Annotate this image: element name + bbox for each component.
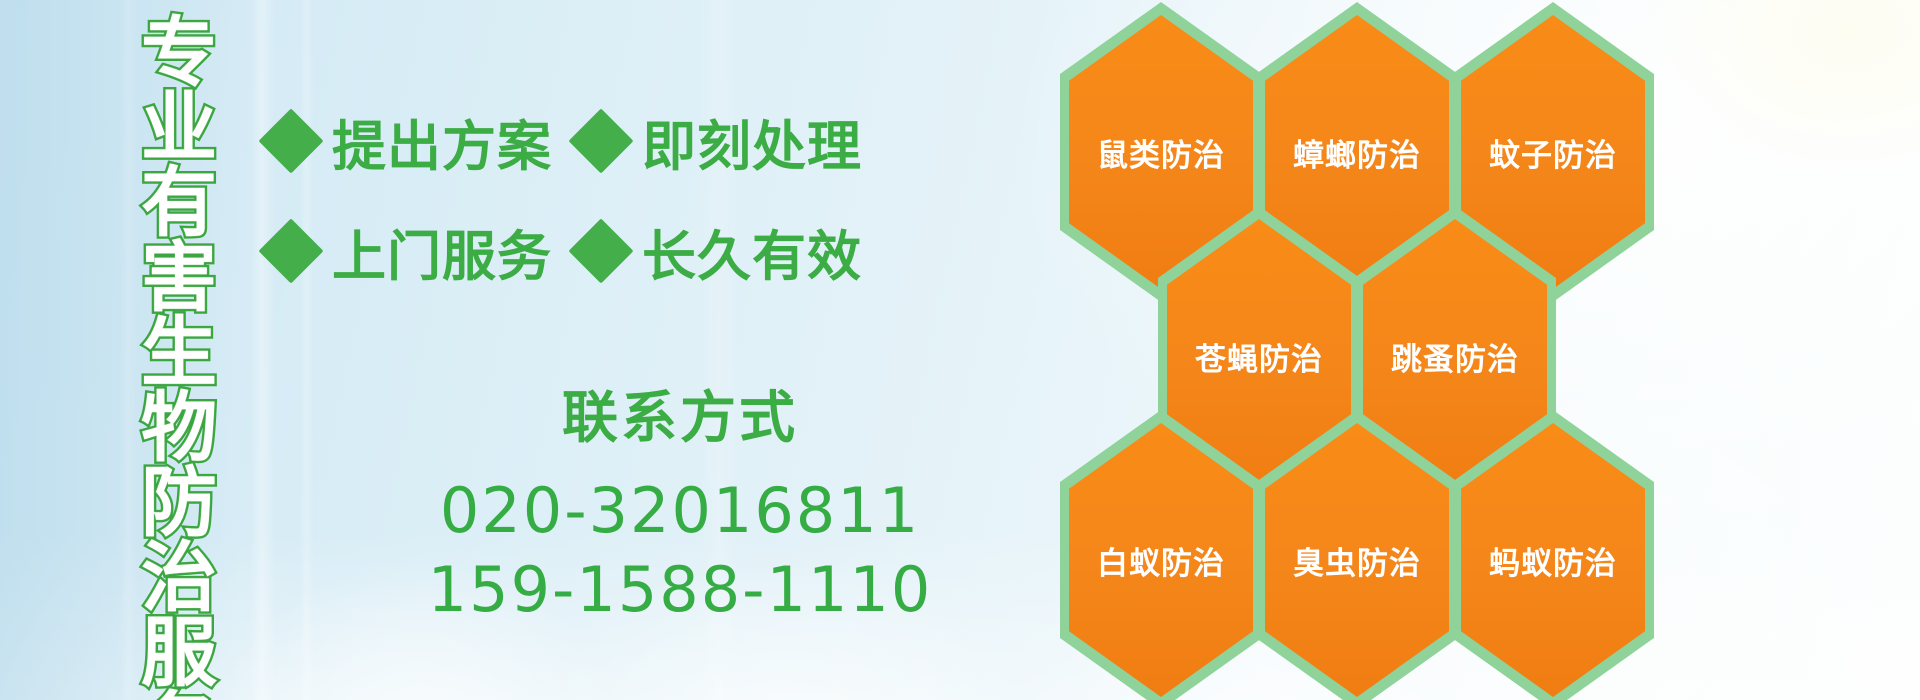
feature-item-long-lasting: 长久有效: [578, 212, 862, 291]
service-label: 白蚁防治: [1097, 538, 1225, 583]
diamond-icon: [258, 218, 323, 283]
diamond-icon: [258, 108, 323, 173]
feature-item-immediate-treatment: 即刻处理: [578, 102, 862, 181]
feature-item-onsite-service: 上门服务: [268, 212, 552, 291]
service-label: 鼠类防治: [1097, 130, 1225, 175]
service-label: 跳蚤防治: [1391, 334, 1519, 379]
contact-block: 联系方式 020-32016811 159-1588-1110: [400, 390, 960, 630]
diamond-icon: [568, 108, 633, 173]
vertical-headline: 专业有害生物防治服务: [112, 12, 208, 700]
feature-row: 提出方案 即刻处理: [268, 86, 888, 196]
feature-row: 上门服务 长久有效: [268, 196, 888, 306]
feature-list: 提出方案 即刻处理 上门服务 长久有效: [268, 86, 888, 306]
feature-item-propose-plan: 提出方案: [268, 102, 552, 181]
service-label: 蚂蚁防治: [1489, 538, 1617, 583]
diamond-icon: [568, 218, 633, 283]
service-label: 臭虫防治: [1293, 538, 1421, 583]
feature-label: 即刻处理: [642, 102, 862, 181]
contact-phone-mobile[interactable]: 159-1588-1110: [400, 550, 960, 629]
service-honeycomb: 鼠类防治 蟑螂防治 蚊子防治 苍蝇防治 跳蚤防治 白蚁防治 臭虫防治 蚂蚁: [1060, 0, 1800, 700]
feature-label: 上门服务: [332, 212, 552, 291]
service-label: 蟑螂防治: [1293, 130, 1421, 175]
feature-label: 长久有效: [642, 212, 862, 291]
service-label: 苍蝇防治: [1195, 334, 1323, 379]
contact-phone-landline[interactable]: 020-32016811: [400, 471, 960, 550]
contact-title: 联系方式: [400, 390, 960, 449]
feature-label: 提出方案: [332, 102, 552, 181]
service-label: 蚊子防治: [1489, 130, 1617, 175]
pest-control-banner: 专业有害生物防治服务 提出方案 即刻处理 上门服务 长久有效 联: [0, 0, 1920, 700]
